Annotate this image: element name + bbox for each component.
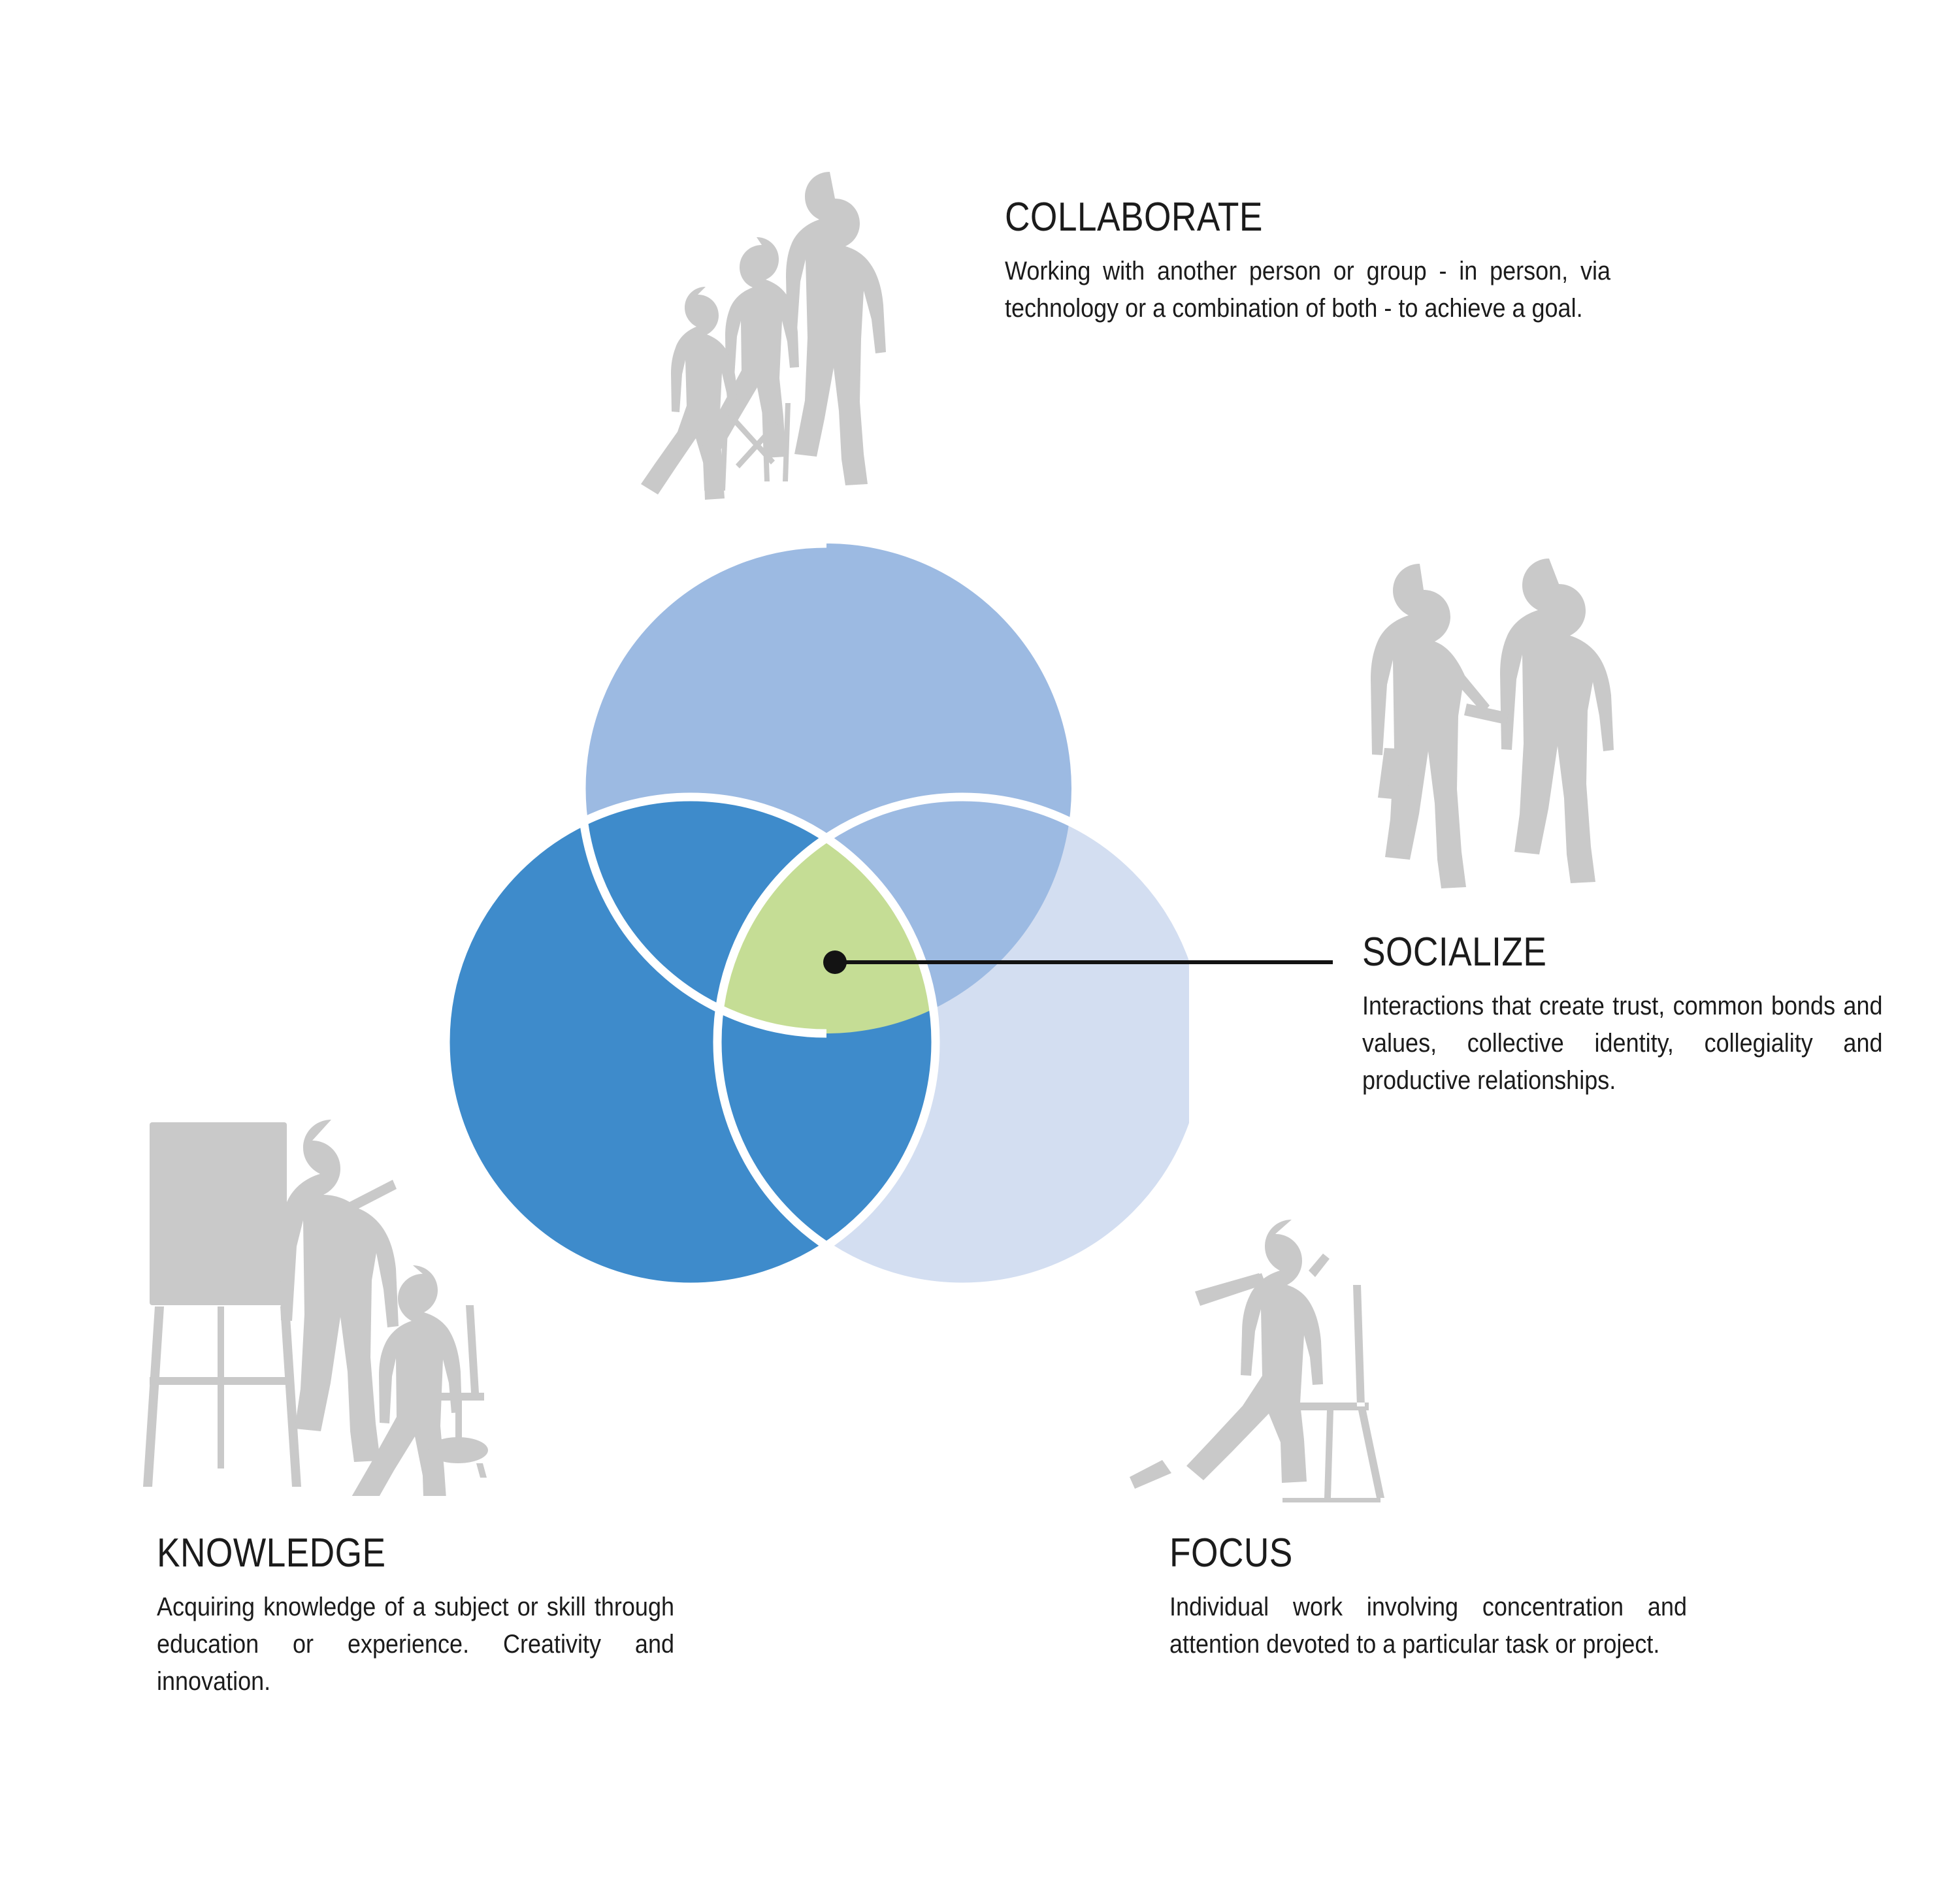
focus-heading: FOCUS	[1169, 1532, 1619, 1574]
block-knowledge: KNOWLEDGE Acquiring knowledge of a subje…	[157, 1532, 679, 1700]
socialize-callout-leader	[817, 941, 1352, 986]
focus-description: Individual work involving concentration …	[1169, 1589, 1687, 1663]
handshake-silhouette	[1343, 552, 1624, 918]
collaborate-group-silhouette	[634, 147, 1013, 513]
block-focus: FOCUS Individual work involving concentr…	[1169, 1532, 1692, 1663]
knowledge-description: Acquiring knowledge of a subject or skil…	[157, 1589, 674, 1700]
socialize-description: Interactions that create trust, common b…	[1362, 988, 1883, 1099]
knowledge-heading: KNOWLEDGE	[157, 1532, 606, 1574]
socialize-heading: SOCIALIZE	[1362, 931, 1812, 973]
whiteboard-presentation-silhouette	[140, 1111, 572, 1496]
collaborate-description: Working with another person or group - i…	[1005, 253, 1610, 327]
block-socialize: SOCIALIZE Interactions that create trust…	[1362, 931, 1885, 1099]
collaborate-heading: COLLABORATE	[1005, 196, 1527, 238]
block-collaborate: COLLABORATE Working with another person …	[1005, 196, 1612, 327]
diagram-canvas: COLLABORATE Working with another person …	[0, 0, 1960, 1882]
seated-reader-silhouette	[1120, 1212, 1395, 1502]
